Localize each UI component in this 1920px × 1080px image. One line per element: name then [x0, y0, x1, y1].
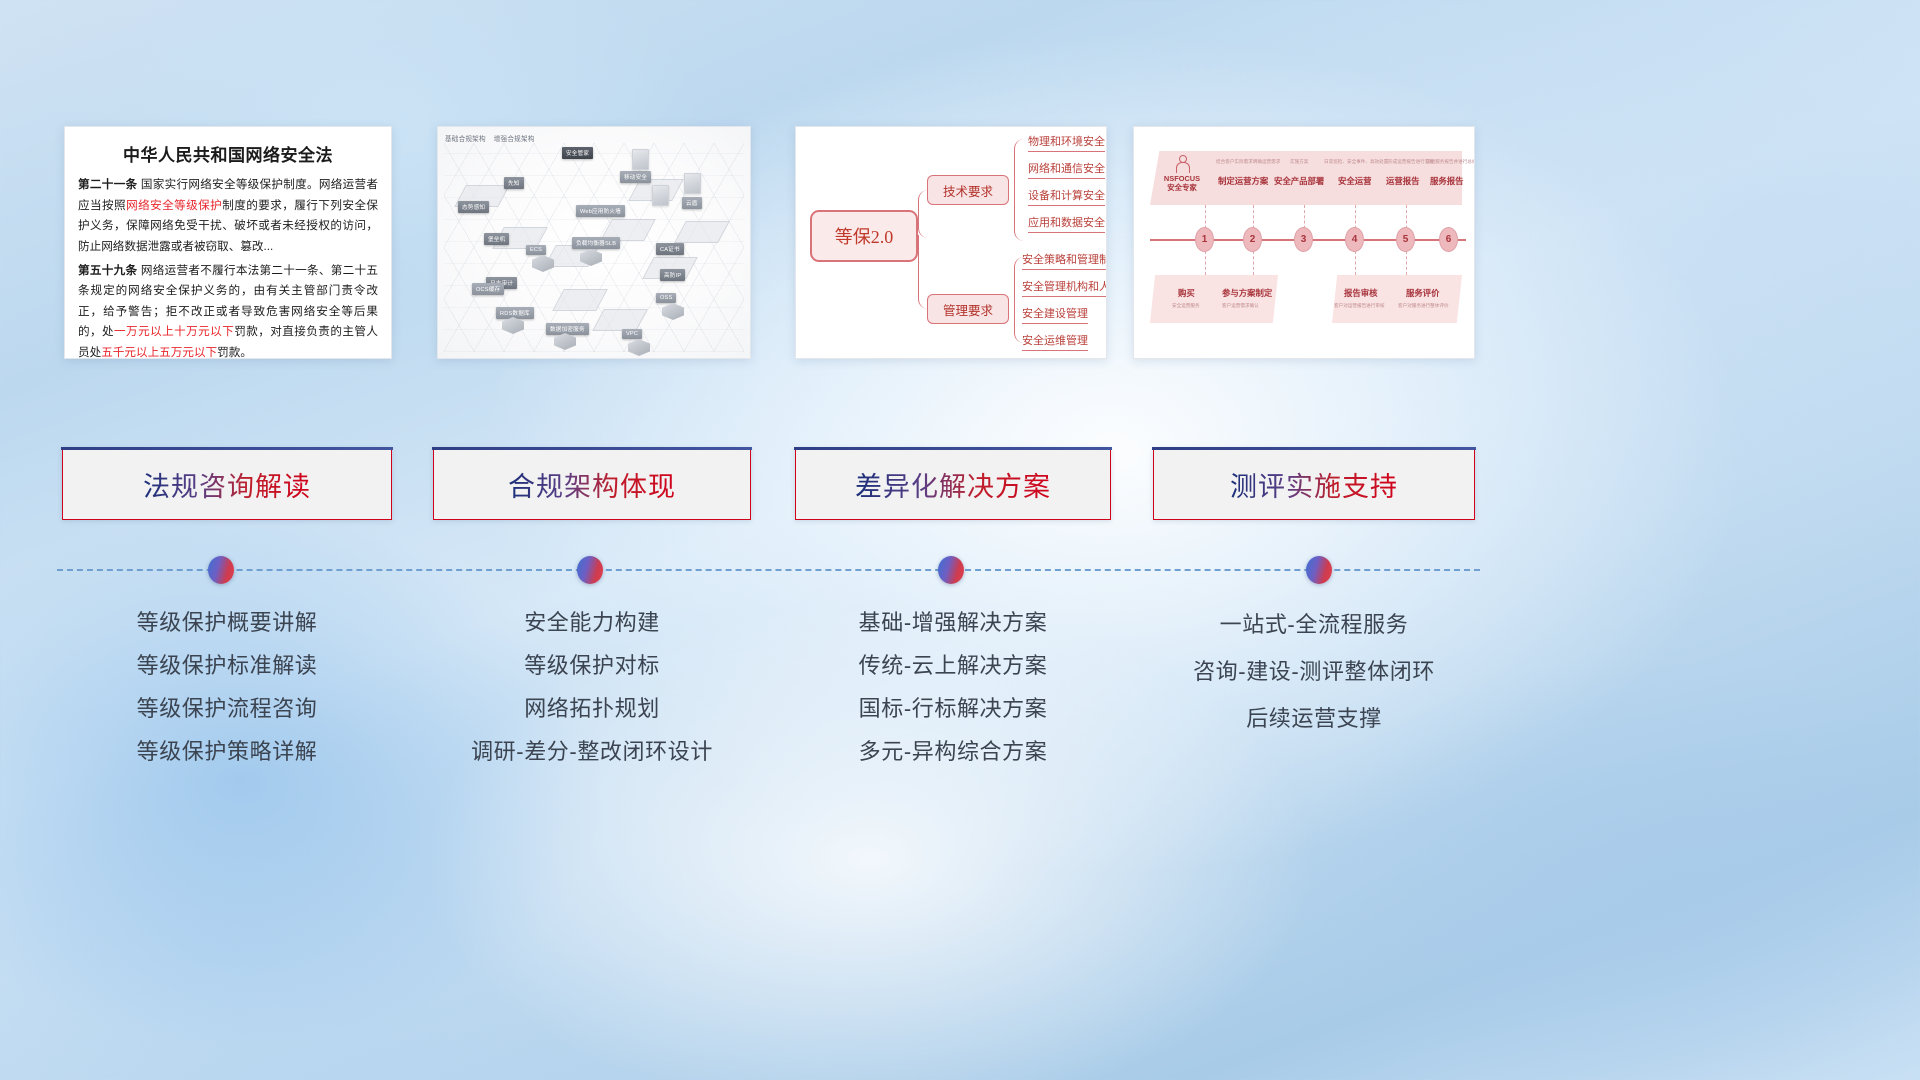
- list-item[interactable]: 等级保护概要讲解: [62, 602, 392, 645]
- law-article-21: 第二十一条 国家实行网络安全等级保护制度。网络运营者应当按照网络安全等级保护制度…: [78, 175, 378, 258]
- card-cybersecurity-law[interactable]: 中华人民共和国网络安全法 第二十一条 国家实行网络安全等级保护制度。网络运营者应…: [64, 126, 392, 359]
- law-article-59: 第五十九条 网络运营者不履行本法第二十一条、第二十五条规定的网络安全保护义务的，…: [78, 261, 378, 360]
- timeline-marker-3[interactable]: [938, 556, 964, 584]
- mindmap-fan-tech-bottom: [1014, 189, 1028, 241]
- mindmap-leaf-construction-mgmt[interactable]: 安全建设管理: [1022, 305, 1088, 324]
- timeline-bottom-band-right: [1332, 275, 1462, 323]
- timeline-bottom1-head[interactable]: 购买: [1178, 287, 1195, 299]
- section-label-box-2[interactable]: 合规架构体现: [433, 448, 751, 520]
- section-label-text-2: 合规架构体现: [508, 465, 676, 504]
- arch-node-ecs[interactable]: ECS: [526, 245, 546, 255]
- arch-cube-mobile: [632, 149, 649, 170]
- timeline-bottom-band-left: [1150, 275, 1278, 323]
- mindmap-leaf-physical-env[interactable]: 物理和环境安全: [1028, 133, 1105, 152]
- detail-column-2: 安全能力构建 等级保护对标 网络拓扑规划 调研-差分-整改闭环设计: [433, 602, 751, 774]
- arch-node-waf-app[interactable]: Web应用防火墙: [576, 205, 625, 217]
- mindmap-leaf-app-data[interactable]: 应用和数据安全: [1028, 214, 1105, 233]
- cards-row: 中华人民共和国网络安全法 第二十一条 国家实行网络安全等级保护制度。网络运营者应…: [0, 126, 1920, 361]
- timeline-bottom3-head[interactable]: 报告审核: [1344, 287, 1378, 299]
- timeline-bottom4-head[interactable]: 服务评价: [1406, 287, 1440, 299]
- arch-node-situation-awareness[interactable]: 态势感知: [458, 201, 489, 213]
- arch-node-xianzhi[interactable]: 先知: [504, 177, 524, 189]
- detail-column-3: 基础-增强解决方案 传统-云上解决方案 国标-行标解决方案 多元-异构综合方案: [795, 602, 1111, 774]
- arch-node-data-encryption[interactable]: 数据加密服务: [546, 323, 589, 335]
- timeline-step2-sub: 结合客户实际需求明确运营需求: [1216, 159, 1280, 165]
- timeline-node-4[interactable]: 4: [1345, 227, 1364, 252]
- arch-node-mobile-security[interactable]: 移动安全: [620, 171, 651, 183]
- section-label-box-1[interactable]: 法规咨询解读: [62, 448, 392, 520]
- section-label-text-1: 法规咨询解读: [143, 465, 311, 504]
- mindmap-canvas: 等保2.0 技术要求 管理要求 物理和环境安全 网络和通信安全 设备和计算安全 …: [796, 127, 1106, 358]
- mindmap-leaf-policy-system[interactable]: 安全策略和管理制度: [1022, 251, 1107, 270]
- timeline-node-5[interactable]: 5: [1396, 227, 1415, 252]
- list-item[interactable]: 调研-差分-整改闭环设计: [433, 731, 751, 774]
- law-article-59-text-c: 罚款。: [217, 346, 252, 359]
- list-item[interactable]: 多元-异构综合方案: [795, 731, 1111, 774]
- detail-column-1: 等级保护概要讲解 等级保护标准解读 等级保护流程咨询 等级保护策略详解: [62, 602, 392, 774]
- arch-node-ocs[interactable]: OCS缓存: [472, 283, 504, 295]
- list-item[interactable]: 网络拓扑规划: [433, 688, 751, 731]
- section-labels-row: 法规咨询解读 合规架构体现 差异化解决方案 测评实施支持: [0, 448, 1920, 520]
- arch-node-anti-ddos[interactable]: 高防IP: [660, 269, 685, 281]
- list-item[interactable]: 传统-云上解决方案: [795, 645, 1111, 688]
- list-item[interactable]: 等级保护对标: [433, 645, 751, 688]
- card-mindmap[interactable]: 等保2.0 技术要求 管理要求 物理和环境安全 网络和通信安全 设备和计算安全 …: [795, 126, 1107, 359]
- timeline-dash-b2: [1253, 251, 1254, 275]
- arch-node-ca-cert[interactable]: CA证书: [656, 243, 684, 255]
- law-article-59-highlight-b: 五千元以上五万元以下: [101, 346, 217, 359]
- mindmap-leaf-network-comm[interactable]: 网络和通信安全: [1028, 160, 1105, 179]
- arch-node-slb[interactable]: 负载均衡器SLB: [572, 237, 620, 249]
- arch-node-security-butler[interactable]: 安全管家: [562, 147, 593, 159]
- mindmap-branch-technical[interactable]: 技术要求: [927, 175, 1009, 205]
- arch-node-bastion[interactable]: 堡垒机: [484, 233, 509, 245]
- detail-column-4: 一站式-全流程服务 咨询-建设-测评整体闭环 后续运营支撑: [1153, 602, 1475, 743]
- law-article-59-label: 第五十九条: [78, 264, 137, 277]
- section-label-box-3[interactable]: 差异化解决方案: [795, 448, 1111, 520]
- section-label-text-4: 测评实施支持: [1230, 465, 1398, 504]
- timeline-marker-1[interactable]: [208, 556, 234, 584]
- timeline-dash-b3: [1355, 251, 1356, 275]
- list-item[interactable]: 国标-行标解决方案: [795, 688, 1111, 731]
- arch-node-rds[interactable]: RDS数据库: [496, 307, 534, 319]
- law-article-21-highlight: 网络安全等级保护: [126, 199, 222, 212]
- list-item[interactable]: 咨询-建设-测评整体闭环: [1153, 649, 1475, 696]
- timeline-step2-head[interactable]: 制定运营方案: [1218, 175, 1268, 187]
- law-article-59-highlight-a: 一万元以上十万元以下: [114, 325, 234, 338]
- law-body: 第二十一条 国家实行网络安全等级保护制度。网络运营者应当按照网络安全等级保护制度…: [65, 166, 391, 359]
- timeline-node-6[interactable]: 6: [1439, 227, 1458, 252]
- progress-timeline: [0, 556, 1920, 586]
- arch-cube-shield: [684, 173, 701, 194]
- law-article-21-label: 第二十一条: [78, 178, 137, 191]
- timeline-node-3[interactable]: 3: [1294, 227, 1313, 252]
- timeline-bottom3-sub: 客户对运营报告进行审核: [1334, 303, 1385, 309]
- architecture-canvas: 基础合规架构 增强合规架构 安全管家 先知 态势感知 堡垒机 日志审计 Web应…: [438, 127, 750, 358]
- section-label-text-3: 差异化解决方案: [855, 465, 1051, 504]
- arch-cube-pc: [652, 185, 669, 206]
- list-item[interactable]: 基础-增强解决方案: [795, 602, 1111, 645]
- timeline-marker-2[interactable]: [577, 556, 603, 584]
- mindmap-leaf-device-compute[interactable]: 设备和计算安全: [1028, 187, 1105, 206]
- card-architecture-diagram[interactable]: 基础合规架构 增强合规架构 安全管家 先知 态势感知 堡垒机 日志审计 Web应…: [437, 126, 751, 359]
- expert-person-icon: [1176, 155, 1189, 173]
- list-item[interactable]: 等级保护策略详解: [62, 731, 392, 774]
- mindmap-branch-management[interactable]: 管理要求: [927, 294, 1009, 324]
- timeline-node-2[interactable]: 2: [1243, 227, 1262, 252]
- background-glow-left: [0, 520, 600, 1040]
- list-item[interactable]: 等级保护流程咨询: [62, 688, 392, 731]
- list-item[interactable]: 等级保护标准解读: [62, 645, 392, 688]
- timeline-bottom1-sub: 安全运营服务: [1172, 303, 1200, 309]
- timeline-step4-head[interactable]: 安全运营: [1338, 175, 1372, 187]
- service-timeline-canvas: NSFOCUS 安全专家 结合客户实际需求明确运营需求 制定运营方案 实施方案 …: [1134, 127, 1474, 358]
- timeline-step3-sub: 实施方案: [1290, 159, 1308, 165]
- timeline-bottom4-sub: 客户对服务进行整体评价: [1398, 303, 1449, 309]
- timeline-step3-head[interactable]: 安全产品部署: [1274, 175, 1324, 187]
- arch-node-cloud-shield[interactable]: 云盾: [682, 197, 702, 209]
- arch-tab-basic[interactable]: 基础合规架构: [445, 133, 486, 143]
- arch-node-vpc[interactable]: VPC: [622, 329, 642, 339]
- arch-tab-enhanced[interactable]: 增强合规架构: [494, 133, 535, 143]
- timeline-marker-4[interactable]: [1306, 556, 1332, 584]
- timeline-step5-head[interactable]: 运营报告: [1386, 175, 1420, 187]
- timeline-node-1[interactable]: 1: [1195, 227, 1214, 252]
- timeline-step4-sub: 日常巡检、安全事件、高效处置: [1324, 159, 1388, 165]
- law-title: 中华人民共和国网络安全法: [65, 141, 391, 166]
- arch-node-oss[interactable]: OSS: [656, 293, 676, 303]
- list-item[interactable]: 安全能力构建: [433, 602, 751, 645]
- list-item[interactable]: 一站式-全流程服务: [1153, 602, 1475, 649]
- list-item[interactable]: 后续运营支撑: [1153, 696, 1475, 743]
- timeline-step6-head[interactable]: 服务报告: [1430, 175, 1464, 187]
- nsfocus-logo-line1: NSFOCUS: [1158, 174, 1206, 183]
- mindmap-leaf-org-personnel[interactable]: 安全管理机构和人员: [1022, 278, 1107, 297]
- section-label-box-4[interactable]: 测评实施支持: [1153, 448, 1475, 520]
- mindmap-leaf-operation-mgmt[interactable]: 安全运维管理: [1022, 332, 1088, 351]
- mindmap-fan-tech-top: [1014, 139, 1028, 191]
- nsfocus-logo-line2: 安全专家: [1158, 183, 1206, 192]
- timeline-bottom2-sub: 客户运营需求确认: [1222, 303, 1259, 309]
- timeline-dash-b1: [1205, 251, 1206, 275]
- timeline-bottom2-head[interactable]: 参与方案制定: [1222, 287, 1272, 299]
- timeline-dashed-line: [57, 569, 1480, 571]
- card-service-timeline[interactable]: NSFOCUS 安全专家 结合客户实际需求明确运营需求 制定运营方案 实施方案 …: [1133, 126, 1475, 359]
- nsfocus-expert-badge: NSFOCUS 安全专家: [1158, 155, 1206, 193]
- architecture-tabs: 基础合规架构 增强合规架构: [445, 133, 535, 143]
- timeline-step6-sub: 输出服务报告并进行总结上报运营部门: [1426, 159, 1475, 165]
- timeline-dash-b4: [1406, 251, 1407, 275]
- mindmap-root[interactable]: 等保2.0: [810, 210, 918, 262]
